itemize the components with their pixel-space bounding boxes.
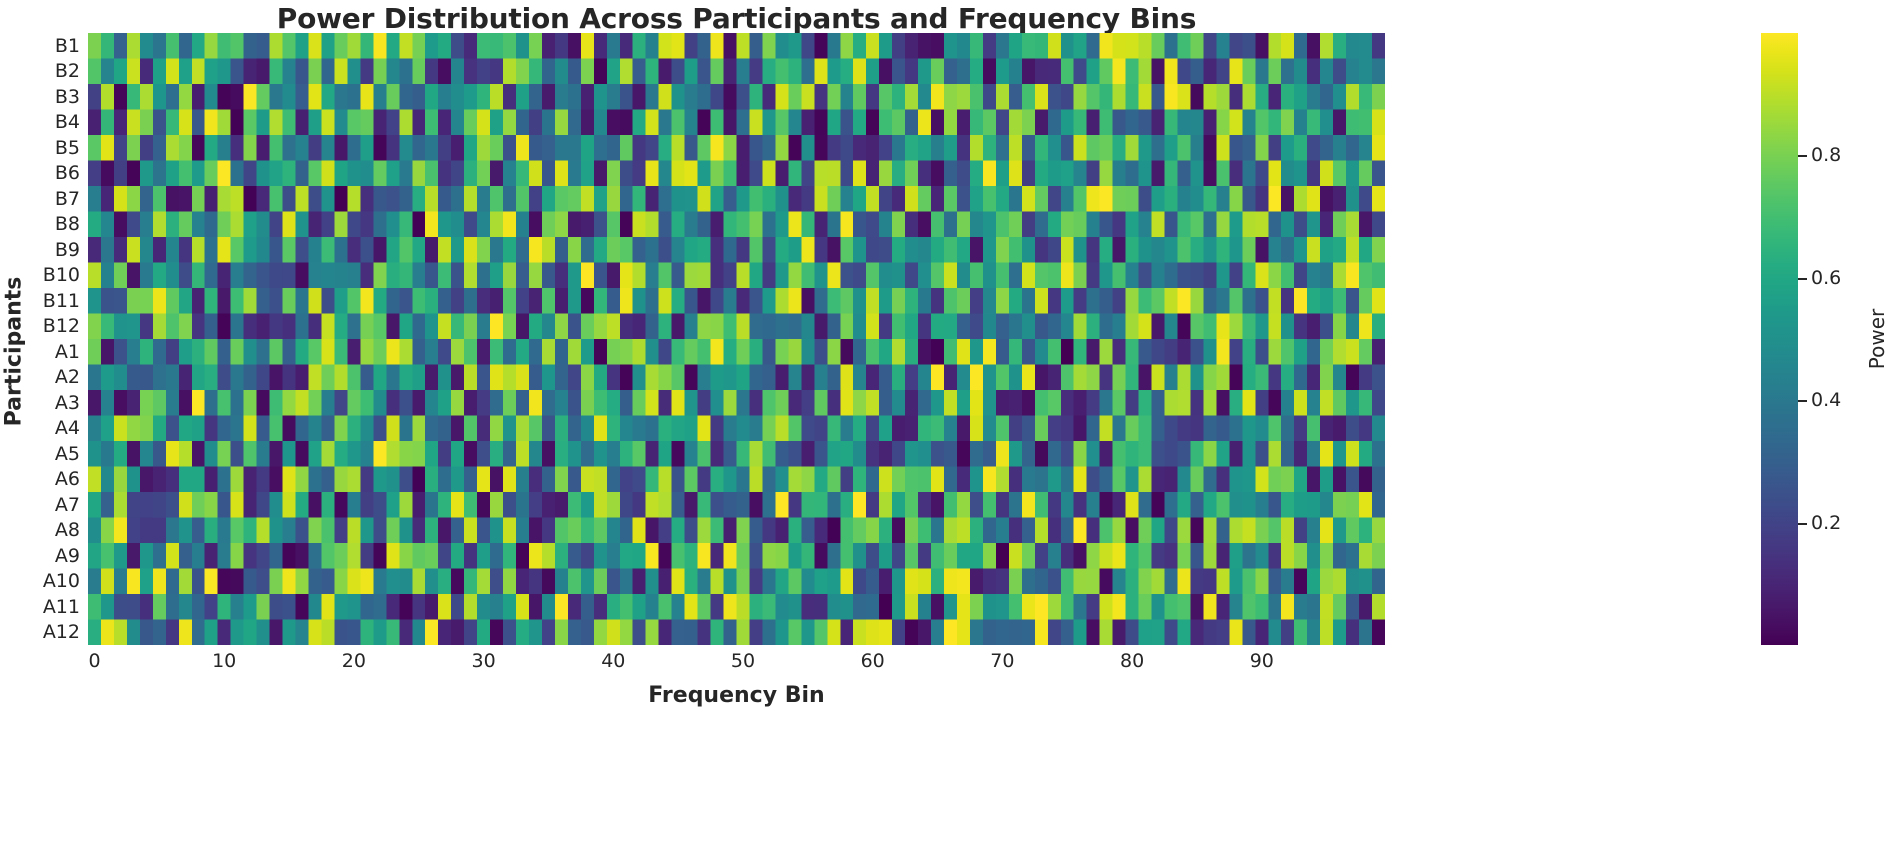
y-axis-tick-label: A3 (0, 392, 80, 414)
x-axis-tick-label: 30 (471, 650, 495, 672)
x-axis-tick-label: 40 (601, 650, 625, 672)
colorbar-tick-mark (1798, 155, 1807, 157)
colorbar-tick-mark (1798, 278, 1807, 280)
colorbar-label-wrap: Power (1857, 33, 1897, 645)
x-axis-tick-label: 20 (342, 650, 366, 672)
x-axis-tick-label: 0 (88, 650, 100, 672)
y-axis-tick-label: A2 (0, 366, 80, 388)
x-axis-tick-label: 50 (731, 650, 755, 672)
heatmap-image (88, 33, 1385, 645)
colorbar-label: Power (1865, 309, 1889, 369)
figure-canvas: Power Distribution Across Participants a… (0, 0, 1901, 866)
y-axis-tick-label: B1 (0, 35, 80, 57)
y-axis-tick-labels: B1B2B3B4B5B6B7B8B9B10B11B12A1A2A3A4A5A6A… (0, 33, 80, 645)
y-axis-tick-label: A5 (0, 443, 80, 465)
y-axis-tick-label: A4 (0, 417, 80, 439)
y-axis-tick-label: A10 (0, 570, 80, 592)
y-axis-tick-label: A8 (0, 519, 80, 541)
colorbar-tick-mark (1798, 400, 1807, 402)
colorbar-tick-label: 0.6 (1811, 267, 1841, 289)
y-axis-tick-label: B11 (0, 290, 80, 312)
y-axis-tick-label: A1 (0, 341, 80, 363)
colorbar-tick-mark (1798, 523, 1807, 525)
colorbar-tick-label: 0.2 (1811, 512, 1841, 534)
y-axis-tick-label: A12 (0, 621, 80, 643)
colorbar-tick-label: 0.8 (1811, 144, 1841, 166)
x-axis-tick-label: 80 (1120, 650, 1144, 672)
x-axis-tick-label: 10 (212, 650, 236, 672)
x-axis-tick-label: 70 (990, 650, 1014, 672)
y-axis-tick-label: B10 (0, 264, 80, 286)
y-axis-tick-label: B3 (0, 86, 80, 108)
x-axis-tick-label: 60 (861, 650, 885, 672)
y-axis-tick-label: B4 (0, 111, 80, 133)
y-axis-tick-label: B5 (0, 137, 80, 159)
colorbar-gradient (1761, 33, 1798, 645)
x-axis-tick-labels: 0102030405060708090 (88, 650, 1385, 682)
y-axis-tick-label: B2 (0, 60, 80, 82)
y-axis-tick-label: B8 (0, 213, 80, 235)
y-axis-tick-label: B9 (0, 239, 80, 261)
y-axis-tick-label: A6 (0, 468, 80, 490)
x-axis-tick-label: 90 (1250, 650, 1274, 672)
y-axis-tick-label: B7 (0, 188, 80, 210)
y-axis-tick-label: A11 (0, 596, 80, 618)
y-axis-tick-label: B12 (0, 315, 80, 337)
x-axis-label: Frequency Bin (88, 683, 1385, 708)
colorbar-tick-label: 0.4 (1811, 389, 1841, 411)
heatmap-plot-area[interactable] (88, 33, 1385, 645)
y-axis-tick-label: B6 (0, 162, 80, 184)
y-axis-tick-label: A7 (0, 494, 80, 516)
page-title: Power Distribution Across Participants a… (88, 2, 1385, 35)
y-axis-tick-label: A9 (0, 545, 80, 567)
